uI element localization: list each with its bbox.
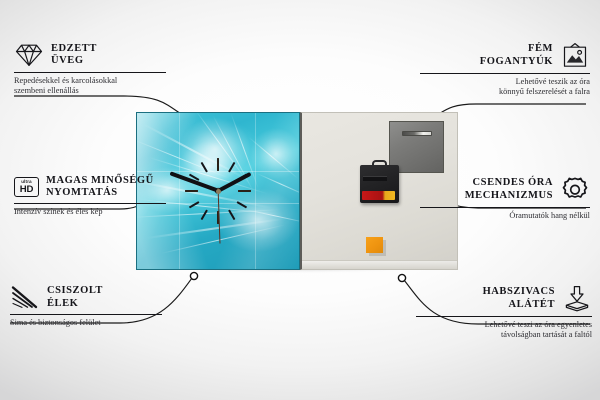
callout-divider <box>14 72 166 73</box>
callout-description: Óramutatók hang nélkül <box>420 211 590 221</box>
infographic-canvas: EDZETT ÜVEG Repedésekkel és karcolásokka… <box>0 0 600 400</box>
beveled-edge-icon <box>10 285 40 310</box>
callout-title: EDZETT ÜVEG <box>51 43 97 68</box>
callout-description: Lehetővé teszi az óra egyenletes távolsá… <box>416 320 592 340</box>
callout-divider <box>10 314 162 315</box>
hanger-loop <box>372 160 387 167</box>
callout-description: Intenzív színek és éles kép <box>14 207 166 217</box>
battery <box>362 191 395 200</box>
panel-base-edge <box>302 260 457 269</box>
diamond-icon <box>14 42 44 68</box>
callout-high-quality-print: ultra HD MAGAS MINŐSÉGŰ NYOMTATÁS Intenz… <box>14 175 166 218</box>
callout-divider <box>420 207 590 208</box>
callout-divider <box>14 203 166 204</box>
callout-divider <box>416 316 592 317</box>
callout-foam-pad: HABSZIVACS ALÁTÉT Lehetővé teszi az óra … <box>416 285 592 340</box>
clock-mechanism-box <box>360 165 399 203</box>
callout-title: HABSZIVACS ALÁTÉT <box>483 286 555 311</box>
callout-divider <box>420 73 590 74</box>
callout-description: Repedésekkel és karcolásokkal szembeni e… <box>14 76 166 96</box>
callout-title: FÉM FOGANTYÚK <box>480 43 553 68</box>
callout-title: MAGAS MINŐSÉGŰ NYOMTATÁS <box>46 175 154 200</box>
callout-silent-mechanism: CSENDES ÓRA MECHANIZMUS Óramutatók hang … <box>420 176 590 221</box>
clock-center-cap <box>216 189 221 194</box>
mechanism-vent <box>363 176 387 181</box>
callout-description: Sima és biztonságos felület <box>10 318 162 328</box>
hanger-slot <box>402 131 432 136</box>
callout-description: Lehetővé teszik az óra könnyű felszerelé… <box>420 77 590 97</box>
product-photo <box>136 112 458 272</box>
press-pad-icon <box>562 285 592 312</box>
callout-polished-edges: CSISZOLT ÉLEK Sima és biztonságos felüle… <box>10 285 162 328</box>
ultra-hd-icon: ultra HD <box>14 177 39 197</box>
callout-title: CSENDES ÓRA MECHANIZMUS <box>465 177 553 202</box>
callout-tempered-glass: EDZETT ÜVEG Repedésekkel és karcolásokka… <box>14 42 166 96</box>
picture-hanger-icon <box>560 42 590 69</box>
callout-metal-handles: FÉM FOGANTYÚK Lehetővé teszik az óra kön… <box>420 42 590 97</box>
callout-title: CSISZOLT ÉLEK <box>47 285 103 310</box>
foam-spacer-pad <box>366 237 383 253</box>
ultra-hd-icon-main: HD <box>20 185 33 195</box>
gear-icon <box>560 176 590 203</box>
